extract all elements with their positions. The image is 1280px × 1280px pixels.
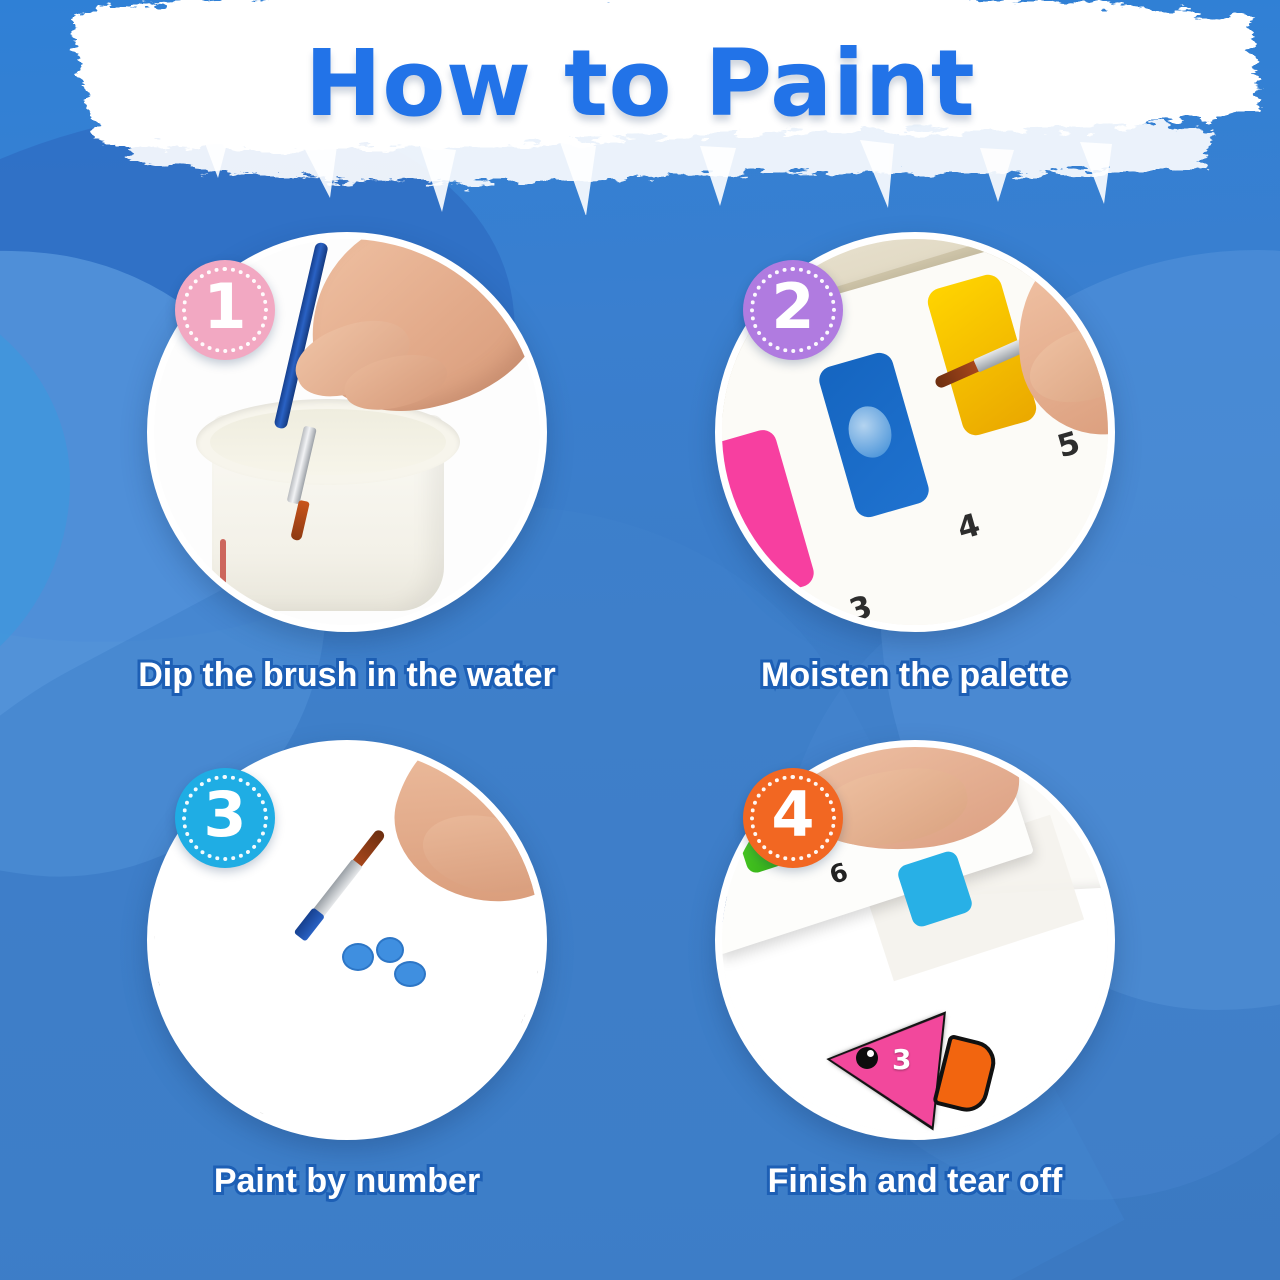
step-card-2: 3 4 5 2 Moisten th xyxy=(680,232,1150,695)
cup-stripe xyxy=(220,539,226,613)
painted-dot xyxy=(342,943,374,971)
step-card-4: 6 7 ✂ 3 4 Finish and tear xyxy=(680,740,1150,1201)
step-badge-1: 1 xyxy=(175,260,275,360)
step-2-photo: 3 4 5 2 xyxy=(715,232,1115,632)
cup-water xyxy=(210,409,446,475)
step-3-caption: Paint by number xyxy=(112,1162,582,1201)
infographic-page: How to Paint xyxy=(0,0,1280,1280)
fish-eye xyxy=(856,1047,878,1069)
painted-dot xyxy=(376,937,404,963)
step-card-1: 1 Dip the brush in the water xyxy=(112,232,582,695)
step-4-photo: 6 7 ✂ 3 4 xyxy=(715,740,1115,1140)
step-2-caption: Moisten the palette xyxy=(680,656,1150,695)
steps-grid: 1 Dip the brush in the water 3 xyxy=(0,232,1280,1272)
step-badge-3-number: 3 xyxy=(203,784,246,846)
fish-body xyxy=(824,1004,943,1127)
step-badge-2-number: 2 xyxy=(771,276,814,338)
step-1-photo: 1 xyxy=(147,232,547,632)
step-3-photo: 5 5 1 7 4 2 1 xyxy=(147,740,547,1140)
fish-number: 3 xyxy=(892,1043,911,1076)
step-badge-4-number: 4 xyxy=(771,784,814,846)
step-4-caption: Finish and tear off xyxy=(680,1162,1150,1201)
painted-dot xyxy=(394,961,426,987)
step-card-3: 5 5 1 7 4 2 1 xyxy=(112,740,582,1201)
step-badge-1-number: 1 xyxy=(203,276,246,338)
page-title: How to Paint xyxy=(0,30,1280,137)
step-badge-4: 4 xyxy=(743,768,843,868)
step-1-caption: Dip the brush in the water xyxy=(112,656,582,695)
step-badge-3: 3 xyxy=(175,768,275,868)
step-badge-2: 2 xyxy=(743,260,843,360)
